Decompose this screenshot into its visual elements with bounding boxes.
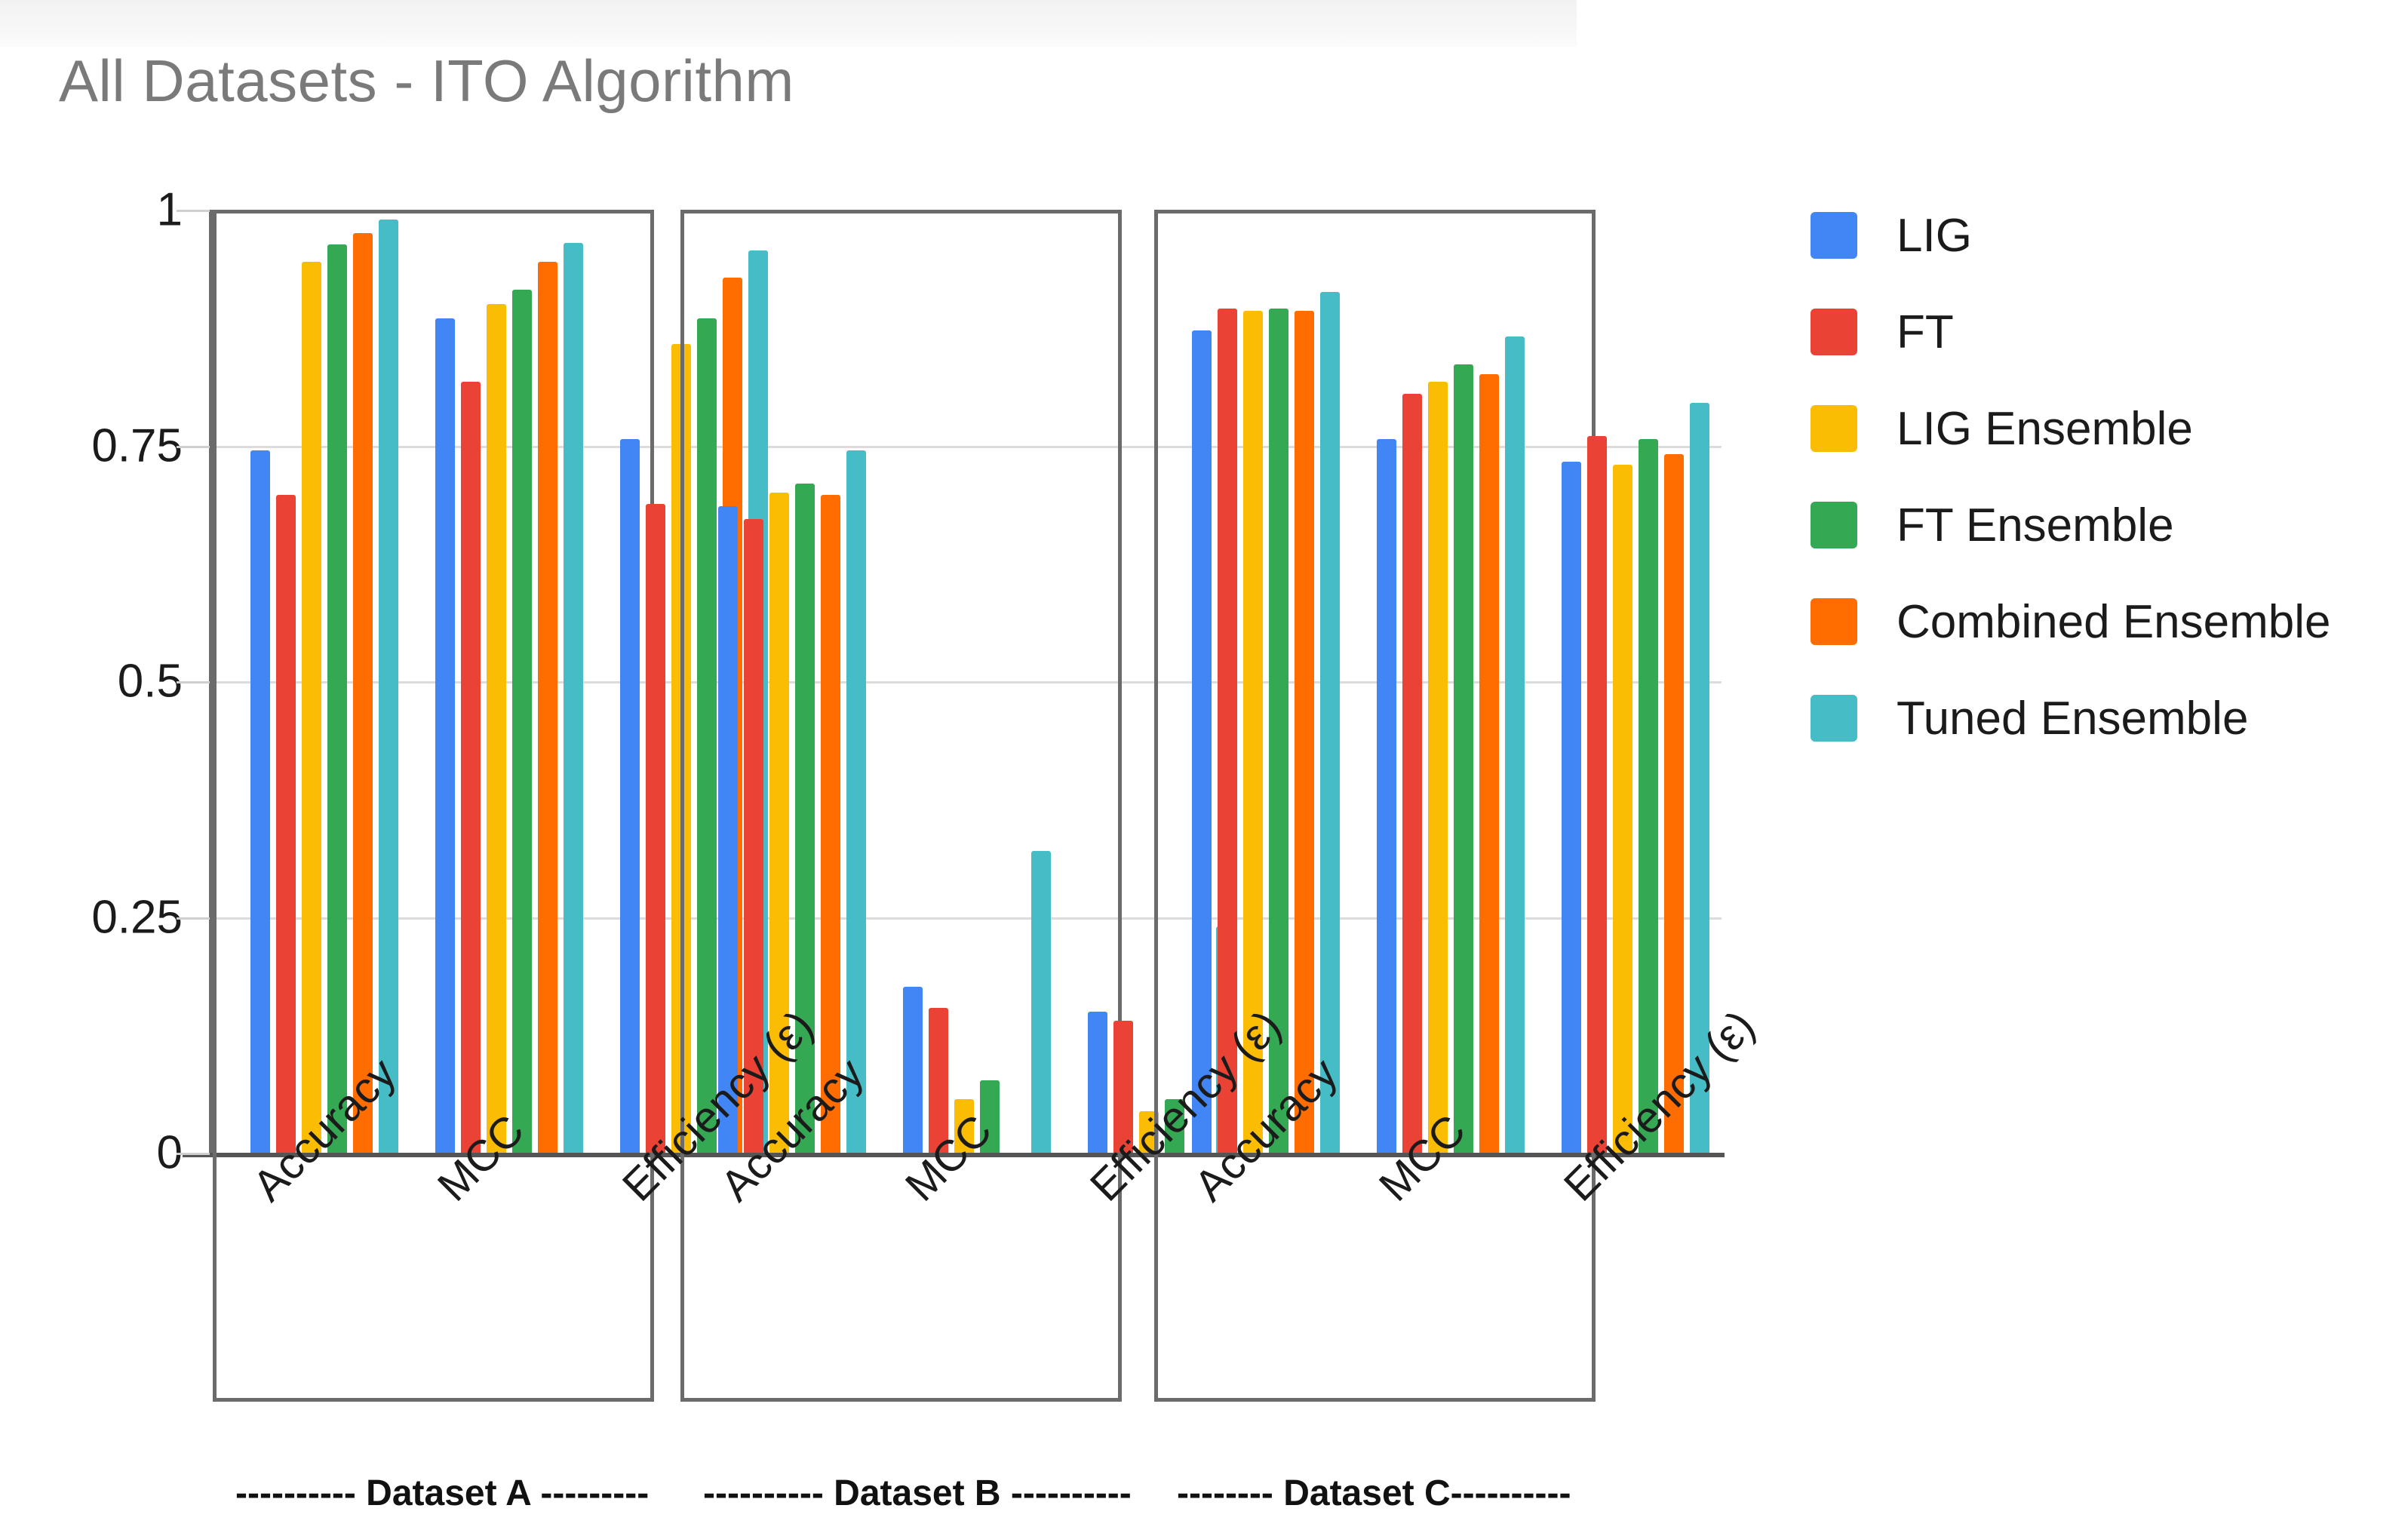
bar[interactable]: [538, 262, 557, 1153]
bar[interactable]: [1088, 1012, 1107, 1153]
legend-item-label: LIG: [1897, 209, 1972, 263]
y-axis-tick-mark: [177, 681, 210, 683]
dataset-caption: ---------- Dataset A ---------: [235, 1473, 649, 1514]
bar-group: [903, 210, 1057, 1153]
plot-area: 00.250.50.751: [213, 210, 1722, 1153]
bar[interactable]: [1639, 439, 1658, 1153]
bar-group: [1192, 210, 1346, 1153]
bar-group: [435, 210, 589, 1153]
legend-item[interactable]: Tuned Ensemble: [1811, 670, 2331, 766]
bar[interactable]: [512, 290, 532, 1153]
bar[interactable]: [1587, 436, 1607, 1153]
bar-group: [1377, 210, 1531, 1153]
bar[interactable]: [1377, 439, 1396, 1153]
legend-swatch-icon: [1811, 212, 1857, 259]
bar[interactable]: [646, 504, 665, 1153]
bar[interactable]: [1295, 311, 1314, 1153]
bar[interactable]: [487, 304, 506, 1153]
legend-item[interactable]: FT: [1811, 284, 2331, 380]
y-axis-tick-mark: [177, 1153, 210, 1155]
bar[interactable]: [1031, 851, 1051, 1153]
legend-swatch-icon: [1811, 695, 1857, 742]
legend: LIGFTLIG EnsembleFT EnsembleCombined Ens…: [1811, 187, 2331, 766]
legend-swatch-icon: [1811, 502, 1857, 548]
y-axis-tick-label: 0: [0, 1126, 183, 1180]
bar[interactable]: [461, 382, 481, 1153]
y-axis-tick-label: 0.25: [0, 890, 183, 944]
legend-item[interactable]: LIG: [1811, 187, 2331, 284]
legend-item-label: Tuned Ensemble: [1897, 692, 2248, 745]
bar[interactable]: [1505, 336, 1525, 1153]
bar[interactable]: [327, 244, 347, 1153]
legend-item-label: FT Ensemble: [1897, 499, 2174, 552]
bar-group: [250, 210, 404, 1153]
bar[interactable]: [903, 987, 923, 1153]
bar[interactable]: [1428, 382, 1448, 1153]
bar[interactable]: [302, 262, 321, 1153]
legend-item-label: FT: [1897, 306, 1954, 359]
bar[interactable]: [1192, 330, 1212, 1153]
y-axis-tick-mark: [177, 446, 210, 448]
bar[interactable]: [564, 243, 583, 1153]
bar[interactable]: [1402, 394, 1422, 1153]
bar[interactable]: [1613, 465, 1632, 1153]
bar[interactable]: [620, 439, 640, 1153]
legend-item-label: Combined Ensemble: [1897, 595, 2331, 649]
dataset-caption: ---------- Dataset B ----------: [703, 1473, 1132, 1514]
legend-item[interactable]: FT Ensemble: [1811, 477, 2331, 573]
bar[interactable]: [435, 318, 455, 1153]
bar[interactable]: [276, 495, 296, 1153]
bar[interactable]: [846, 450, 866, 1153]
bar[interactable]: [250, 450, 270, 1153]
y-axis-tick-mark: [177, 917, 210, 920]
bar-group: [1562, 210, 1715, 1153]
page-title: All Datasets - ITO Algorithm: [59, 47, 794, 115]
y-axis-tick-mark: [177, 210, 210, 212]
legend-swatch-icon: [1811, 598, 1857, 645]
y-axis-tick-label: 0.5: [0, 655, 183, 708]
legend-item-label: LIG Ensemble: [1897, 402, 2193, 456]
legend-swatch-icon: [1811, 309, 1857, 355]
legend-item[interactable]: Combined Ensemble: [1811, 573, 2331, 670]
dataset-caption: -------- Dataset C----------: [1177, 1473, 1571, 1514]
bar[interactable]: [1320, 292, 1340, 1153]
legend-swatch-icon: [1811, 405, 1857, 452]
y-axis-tick-label: 0.75: [0, 419, 183, 472]
bar[interactable]: [353, 233, 373, 1153]
bar[interactable]: [1479, 374, 1499, 1153]
bar[interactable]: [1562, 462, 1581, 1153]
title-band: [0, 0, 1577, 47]
y-axis-tick-label: 1: [0, 183, 183, 237]
legend-item[interactable]: LIG Ensemble: [1811, 380, 2331, 477]
bar[interactable]: [1454, 364, 1473, 1153]
bar[interactable]: [379, 220, 398, 1153]
